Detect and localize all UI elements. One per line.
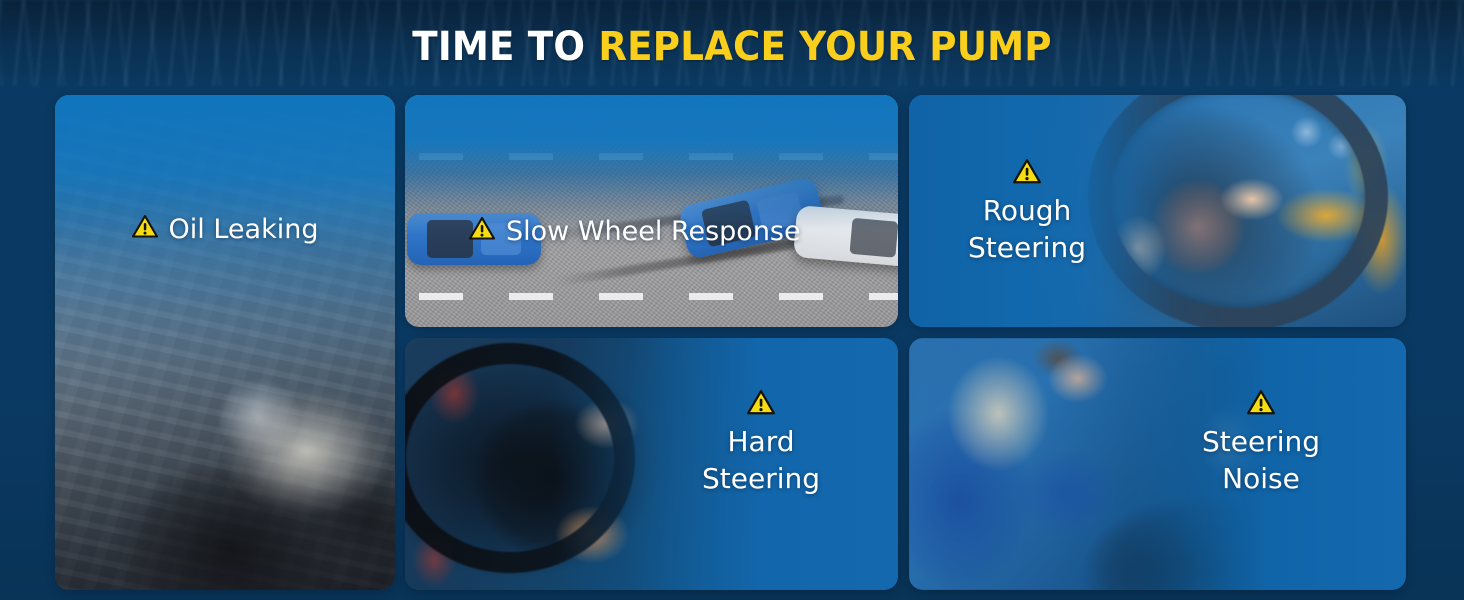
- rough-steering-label-line2: Steering: [968, 232, 1086, 263]
- card-slow-wheel-response[interactable]: Slow Wheel Response: [405, 95, 898, 327]
- slow-wheel-response-label: Slow Wheel Response: [506, 217, 801, 247]
- steering-noise-label-line1: Steering: [1202, 426, 1320, 457]
- slow-wheel-response-blue-overlay: [405, 95, 898, 327]
- oil-leaking-caption: Oil Leaking: [55, 215, 395, 245]
- rough-steering-caption: Rough Steering: [927, 159, 1127, 263]
- hard-steering-caption: Hard Steering: [646, 390, 876, 494]
- card-hard-steering[interactable]: Hard Steering: [405, 338, 898, 590]
- slow-wheel-response-caption: Slow Wheel Response: [469, 217, 801, 247]
- warning-triangle-icon: [132, 215, 158, 245]
- warning-triangle-icon: [1247, 390, 1275, 421]
- card-oil-leaking[interactable]: Oil Leaking: [55, 95, 395, 590]
- page-title: TIME TO REPLACE YOUR PUMP: [51, 24, 1413, 70]
- steering-noise-caption: Steering Noise: [1146, 390, 1376, 494]
- page-title-yellow-part: REPLACE YOUR PUMP: [598, 24, 1051, 70]
- oil-leaking-label: Oil Leaking: [169, 215, 319, 245]
- card-rough-steering[interactable]: Rough Steering: [909, 95, 1406, 327]
- oil-leaking-blue-overlay: [55, 95, 395, 590]
- card-steering-noise[interactable]: Steering Noise: [909, 338, 1406, 590]
- warning-triangle-icon: [747, 390, 775, 421]
- rough-steering-label-line1: Rough: [983, 195, 1072, 226]
- page-title-white-part: TIME TO: [412, 24, 585, 70]
- hard-steering-label-line2: Steering: [702, 463, 820, 494]
- steering-noise-label-line2: Noise: [1222, 463, 1300, 494]
- warning-triangle-icon: [1013, 159, 1041, 190]
- warning-triangle-icon: [469, 217, 495, 247]
- hard-steering-label-line1: Hard: [727, 426, 794, 457]
